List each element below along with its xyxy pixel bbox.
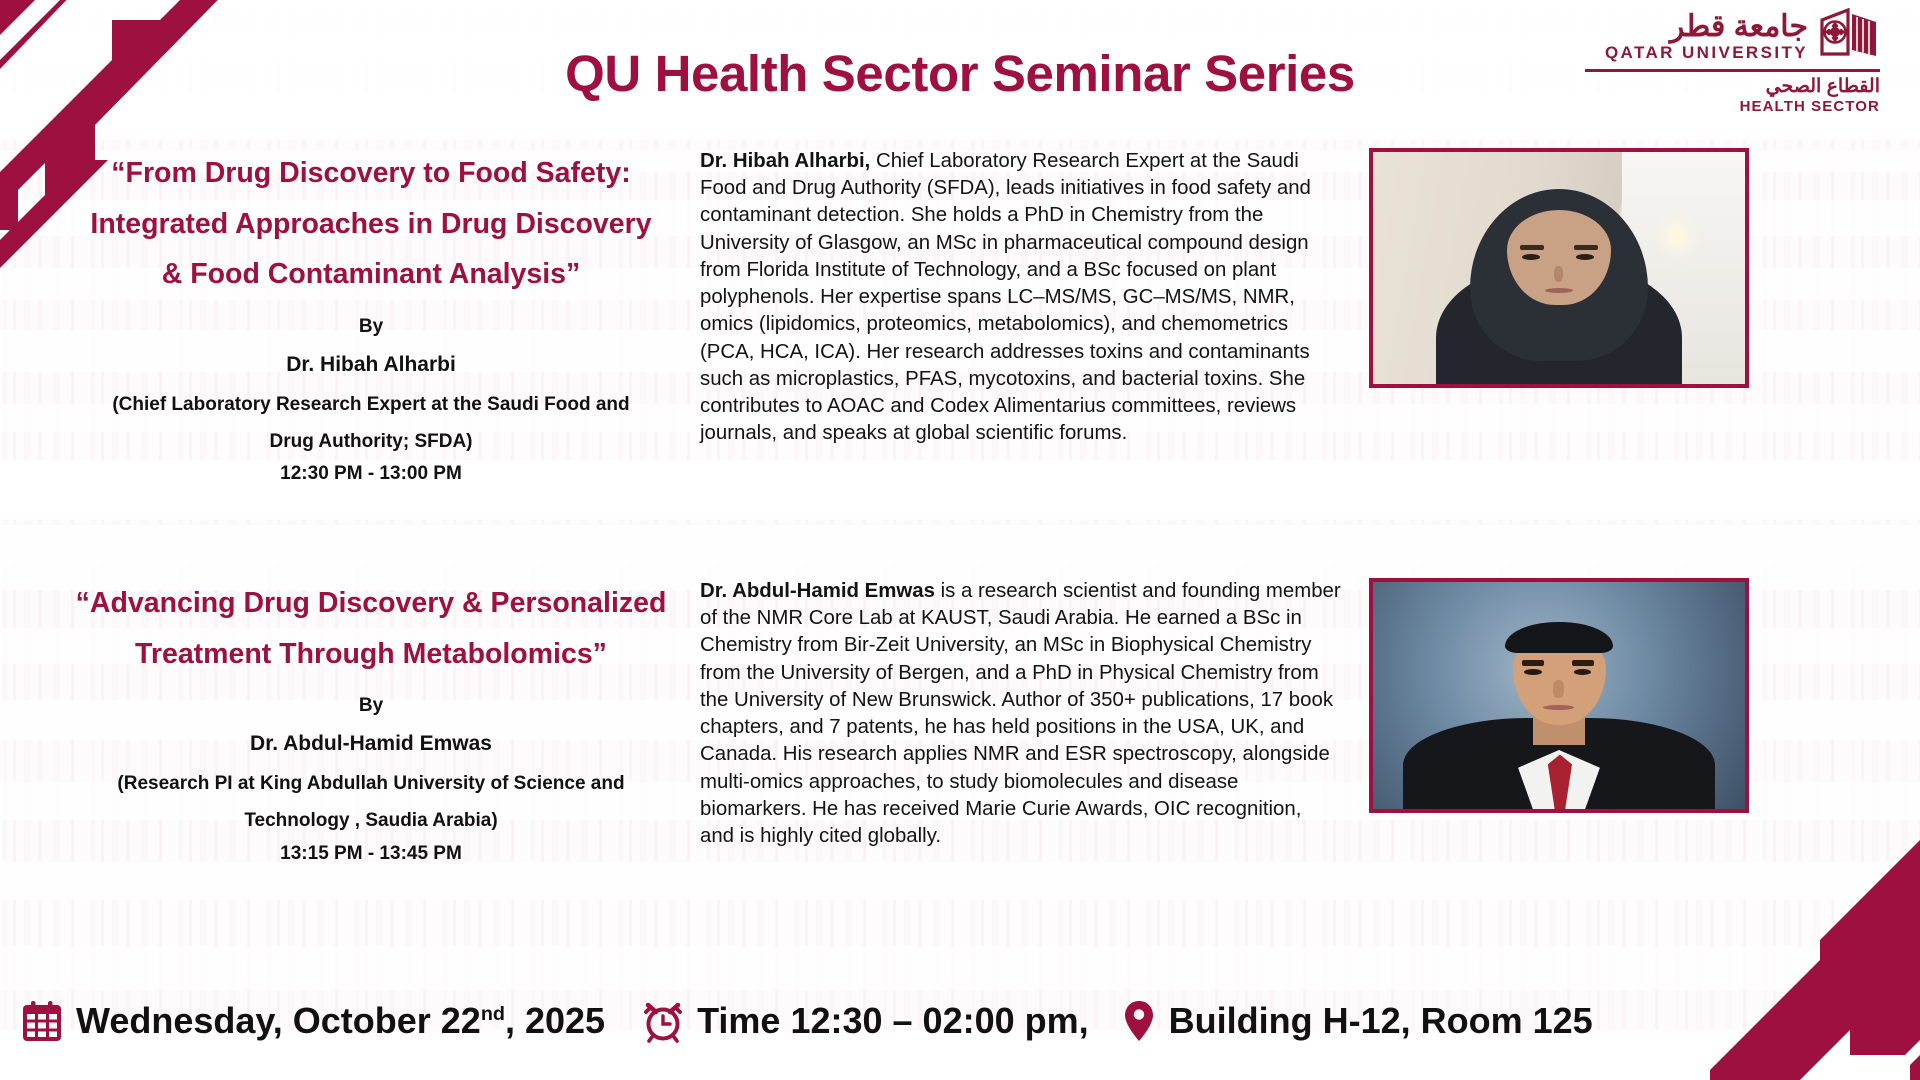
talk-title-2-line-1: “Advancing Drug Discovery & Personalized: [60, 578, 682, 629]
event-date-ordinal: nd: [481, 1003, 505, 1025]
seminar-poster: جامعة قطر QATAR UNIVERSITY: [0, 0, 1920, 1080]
alarm-clock-icon: [643, 999, 683, 1043]
talk-details-1: “From Drug Discovery to Food Safety: Int…: [0, 148, 700, 488]
footer-date-item: Wednesday, October 22nd, 2025: [22, 1000, 605, 1042]
event-date-text: Wednesday, October 22: [76, 1000, 481, 1041]
speaker-block-1: “From Drug Discovery to Food Safety: Int…: [0, 148, 1920, 488]
speaker-photo-2: [1369, 578, 1749, 813]
speaker-name-2: Dr. Abdul-Hamid Emwas: [60, 724, 682, 765]
event-location: Building H-12, Room 125: [1169, 1000, 1593, 1042]
logo-arabic-text: جامعة قطر: [1670, 12, 1808, 42]
speaker-affiliation-2-line-2: Technology , Saudia Arabia): [60, 802, 682, 839]
talk-time-2: 13:15 PM - 13:45 PM: [60, 840, 682, 868]
speaker-photo-container-1: [1355, 148, 1845, 488]
speaker-bio-2: Dr. Abdul-Hamid Emwas is a research scie…: [700, 578, 1355, 867]
bio-speaker-name-2: Dr. Abdul-Hamid Emwas: [700, 580, 935, 602]
bio-speaker-name-1: Dr. Hibah Alharbi,: [700, 150, 870, 172]
talk-title-2-line-2: Treatment Through Metabolomics”: [60, 629, 682, 680]
talk-time-1: 12:30 PM - 13:00 PM: [60, 460, 682, 488]
event-date: Wednesday, October 22nd, 2025: [76, 1000, 605, 1042]
speaker-name-1: Dr. Hibah Alharbi: [60, 345, 682, 386]
talk-title-1-line-1: “From Drug Discovery to Food Safety:: [60, 148, 682, 199]
footer-location-item: Building H-12, Room 125: [1123, 999, 1593, 1043]
by-label-2: By: [60, 687, 682, 724]
speaker-affiliation-2: (Research PI at King Abdullah University…: [60, 765, 682, 839]
bio-body-2: is a research scientist and founding mem…: [700, 580, 1341, 847]
page-title: QU Health Sector Seminar Series: [0, 44, 1920, 103]
event-time: Time 12:30 – 02:00 pm,: [697, 1000, 1089, 1042]
speaker-photo-1: [1369, 148, 1749, 388]
talk-title-1: “From Drug Discovery to Food Safety: Int…: [60, 148, 682, 300]
talk-title-1-line-2: Integrated Approaches in Drug Discovery: [60, 199, 682, 250]
calendar-icon: [22, 1000, 62, 1042]
bio-body-1: Chief Laboratory Research Expert at the …: [700, 150, 1311, 444]
speaker-block-2: “Advancing Drug Discovery & Personalized…: [0, 578, 1920, 867]
by-label-1: By: [60, 308, 682, 345]
speaker-affiliation-1-line-2: Drug Authority; SFDA): [60, 423, 682, 460]
speaker-affiliation-1: (Chief Laboratory Research Expert at the…: [60, 386, 682, 460]
talk-title-1-line-3: & Food Contaminant Analysis”: [60, 249, 682, 300]
talk-title-2: “Advancing Drug Discovery & Personalized…: [60, 578, 682, 679]
talk-details-2: “Advancing Drug Discovery & Personalized…: [0, 578, 700, 867]
event-date-year: , 2025: [505, 1000, 605, 1041]
speaker-bio-1: Dr. Hibah Alharbi, Chief Laboratory Rese…: [700, 148, 1355, 488]
map-pin-icon: [1123, 999, 1155, 1043]
footer-time-item: Time 12:30 – 02:00 pm,: [643, 999, 1089, 1043]
speaker-photo-container-2: [1355, 578, 1845, 867]
section-divider-gap: [0, 525, 1920, 563]
speaker-affiliation-2-line-1: (Research PI at King Abdullah University…: [60, 765, 682, 802]
speaker-affiliation-1-line-1: (Chief Laboratory Research Expert at the…: [60, 386, 682, 423]
event-footer: Wednesday, October 22nd, 2025 Time 12:30…: [0, 962, 1920, 1080]
